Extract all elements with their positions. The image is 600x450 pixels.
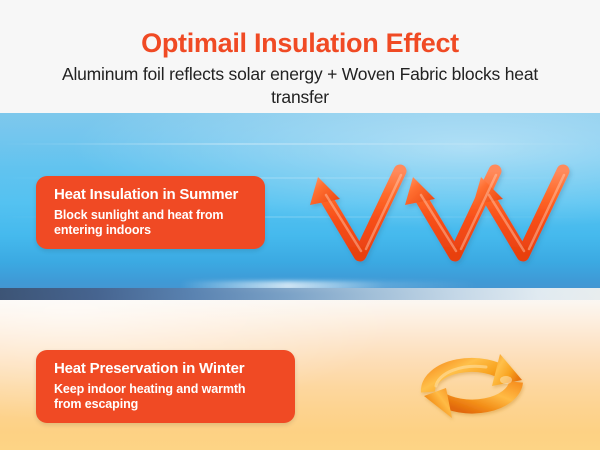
heat-circulation-loop-arrows-icon [412,340,532,432]
winter-card-title: Heat Preservation in Winter [54,360,279,378]
insulation-effect-poster: Optimail Insulation Effect Aluminum foil… [0,0,600,450]
summer-callout-card: Heat Insulation in Summer Block sunlight… [36,176,265,249]
summer-card-title: Heat Insulation in Summer [54,186,249,204]
summer-card-body-line1: Block sunlight and heat from [54,208,249,223]
reflected-sun-rays-zigzag-arrows-icon [300,155,585,265]
winter-card-body-line2: from escaping [54,397,279,412]
header: Optimail Insulation Effect Aluminum foil… [0,0,600,113]
cloud-streak [0,143,600,145]
winter-card-body-line1: Keep indoor heating and warmth [54,382,279,397]
cycle-arrow-lower [424,382,516,418]
winter-callout-card: Heat Preservation in Winter Keep indoor … [36,350,295,423]
page-subtitle: Aluminum foil reflects solar energy + Wo… [50,63,550,108]
summer-card-body-line2: entering indoors [54,223,249,238]
page-title: Optimail Insulation Effect [0,29,600,57]
horizon-band [0,288,600,300]
